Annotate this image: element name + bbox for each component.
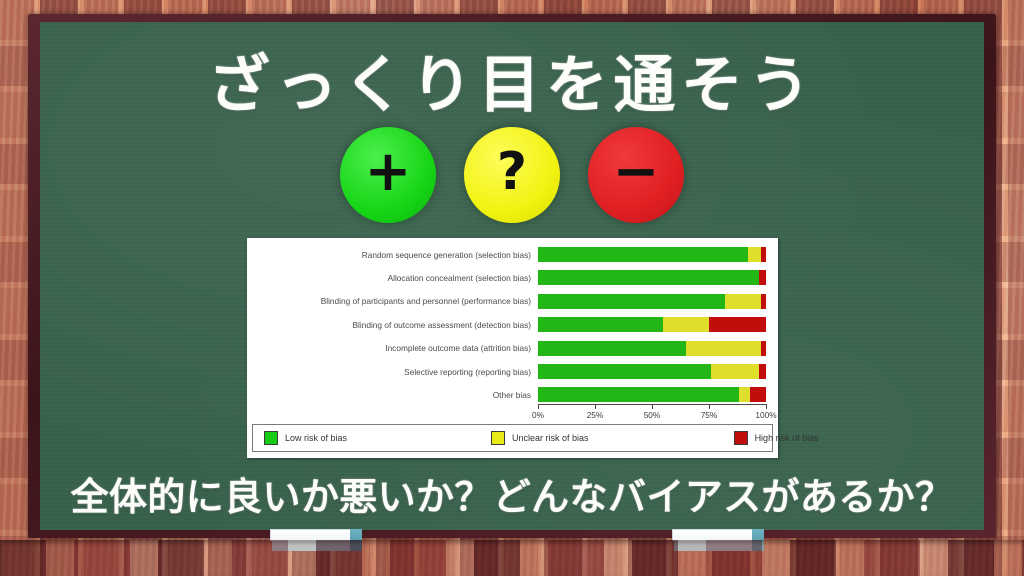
rob-segment-low bbox=[538, 364, 711, 379]
rob-stacked-bar bbox=[538, 294, 766, 309]
rob-stacked-bar bbox=[538, 270, 766, 285]
legend-item-unclear: Unclear risk of bias bbox=[491, 431, 589, 445]
rob-stacked-bar bbox=[538, 387, 766, 402]
low-risk-glyph: + bbox=[365, 144, 412, 200]
high-risk-minus-icon: − bbox=[588, 127, 684, 223]
rob-segment-high bbox=[759, 364, 766, 379]
rob-row: Other bias bbox=[251, 384, 774, 405]
rob-segment-high bbox=[750, 387, 766, 402]
rob-segment-unclear bbox=[739, 387, 750, 402]
rob-segment-high bbox=[759, 270, 766, 285]
legend-label-high: High risk of bias bbox=[755, 433, 819, 443]
slide-caption: 全体的に良いか悪いか？どんなバイアスがあるか？ bbox=[0, 466, 1024, 521]
rob-row-label: Blinding of participants and personnel (… bbox=[251, 296, 538, 306]
rob-segment-unclear bbox=[686, 341, 761, 356]
legend-swatch-high-icon bbox=[734, 431, 748, 445]
risk-of-bias-graph: Random sequence generation (selection bi… bbox=[247, 238, 778, 458]
rob-row-label: Random sequence generation (selection bi… bbox=[251, 250, 538, 260]
rob-segment-unclear bbox=[748, 247, 762, 262]
legend-item-low: Low risk of bias bbox=[264, 431, 347, 445]
rob-row: Blinding of outcome assessment (detectio… bbox=[251, 314, 774, 335]
axis-tick-label: 100% bbox=[755, 410, 776, 420]
low-risk-plus-icon: + bbox=[340, 127, 436, 223]
rob-segment-low bbox=[538, 341, 686, 356]
rob-segment-low bbox=[538, 270, 759, 285]
axis-tick bbox=[538, 404, 539, 409]
unclear-risk-glyph: ? bbox=[497, 146, 527, 198]
rob-segment-low bbox=[538, 387, 739, 402]
legend-swatch-low-icon bbox=[264, 431, 278, 445]
axis-tick bbox=[652, 404, 653, 409]
legend-swatch-unclear-icon bbox=[491, 431, 505, 445]
rob-segment-low bbox=[538, 294, 725, 309]
rob-plot-area: Random sequence generation (selection bi… bbox=[251, 244, 774, 410]
rob-legend: Low risk of bias Unclear risk of bias Hi… bbox=[252, 424, 773, 452]
rob-segment-low bbox=[538, 247, 748, 262]
rob-row-label: Other bias bbox=[251, 390, 538, 400]
rob-segment-unclear bbox=[663, 317, 709, 332]
axis-tick-label: 0% bbox=[532, 410, 544, 420]
rob-row-label: Blinding of outcome assessment (detectio… bbox=[251, 320, 538, 330]
rob-segment-high bbox=[761, 294, 766, 309]
risk-judgement-icons: + ? − bbox=[0, 127, 1024, 223]
rob-segment-low bbox=[538, 317, 663, 332]
chalk-ledge bbox=[0, 540, 1024, 576]
rob-row: Blinding of participants and personnel (… bbox=[251, 291, 774, 312]
rob-row: Allocation concealment (selection bias) bbox=[251, 267, 774, 288]
axis-tick-label: 75% bbox=[701, 410, 718, 420]
rob-segment-high bbox=[761, 341, 766, 356]
axis-tick-label: 25% bbox=[587, 410, 604, 420]
unclear-risk-question-icon: ? bbox=[464, 127, 560, 223]
rob-row: Selective reporting (reporting bias) bbox=[251, 361, 774, 382]
rob-stacked-bar bbox=[538, 317, 766, 332]
legend-item-high: High risk of bias bbox=[734, 431, 819, 445]
high-risk-glyph: − bbox=[613, 144, 660, 200]
rob-row-label: Selective reporting (reporting bias) bbox=[251, 367, 538, 377]
rob-segment-unclear bbox=[725, 294, 761, 309]
axis-tick bbox=[595, 404, 596, 409]
axis-tick-label: 50% bbox=[644, 410, 661, 420]
rob-stacked-bar bbox=[538, 341, 766, 356]
axis-tick bbox=[709, 404, 710, 409]
rob-stacked-bar bbox=[538, 364, 766, 379]
rob-stacked-bar bbox=[538, 247, 766, 262]
rob-row-label: Incomplete outcome data (attrition bias) bbox=[251, 343, 538, 353]
rob-segment-high bbox=[761, 247, 766, 262]
rob-row-label: Allocation concealment (selection bias) bbox=[251, 273, 538, 283]
legend-label-unclear: Unclear risk of bias bbox=[512, 433, 589, 443]
rob-row: Random sequence generation (selection bi… bbox=[251, 244, 774, 265]
legend-label-low: Low risk of bias bbox=[285, 433, 347, 443]
rob-segment-unclear bbox=[711, 364, 759, 379]
rob-row: Incomplete outcome data (attrition bias) bbox=[251, 338, 774, 359]
axis-tick bbox=[766, 404, 767, 409]
rob-segment-high bbox=[709, 317, 766, 332]
slide-title: ざっくり目を通そう bbox=[0, 34, 1024, 124]
